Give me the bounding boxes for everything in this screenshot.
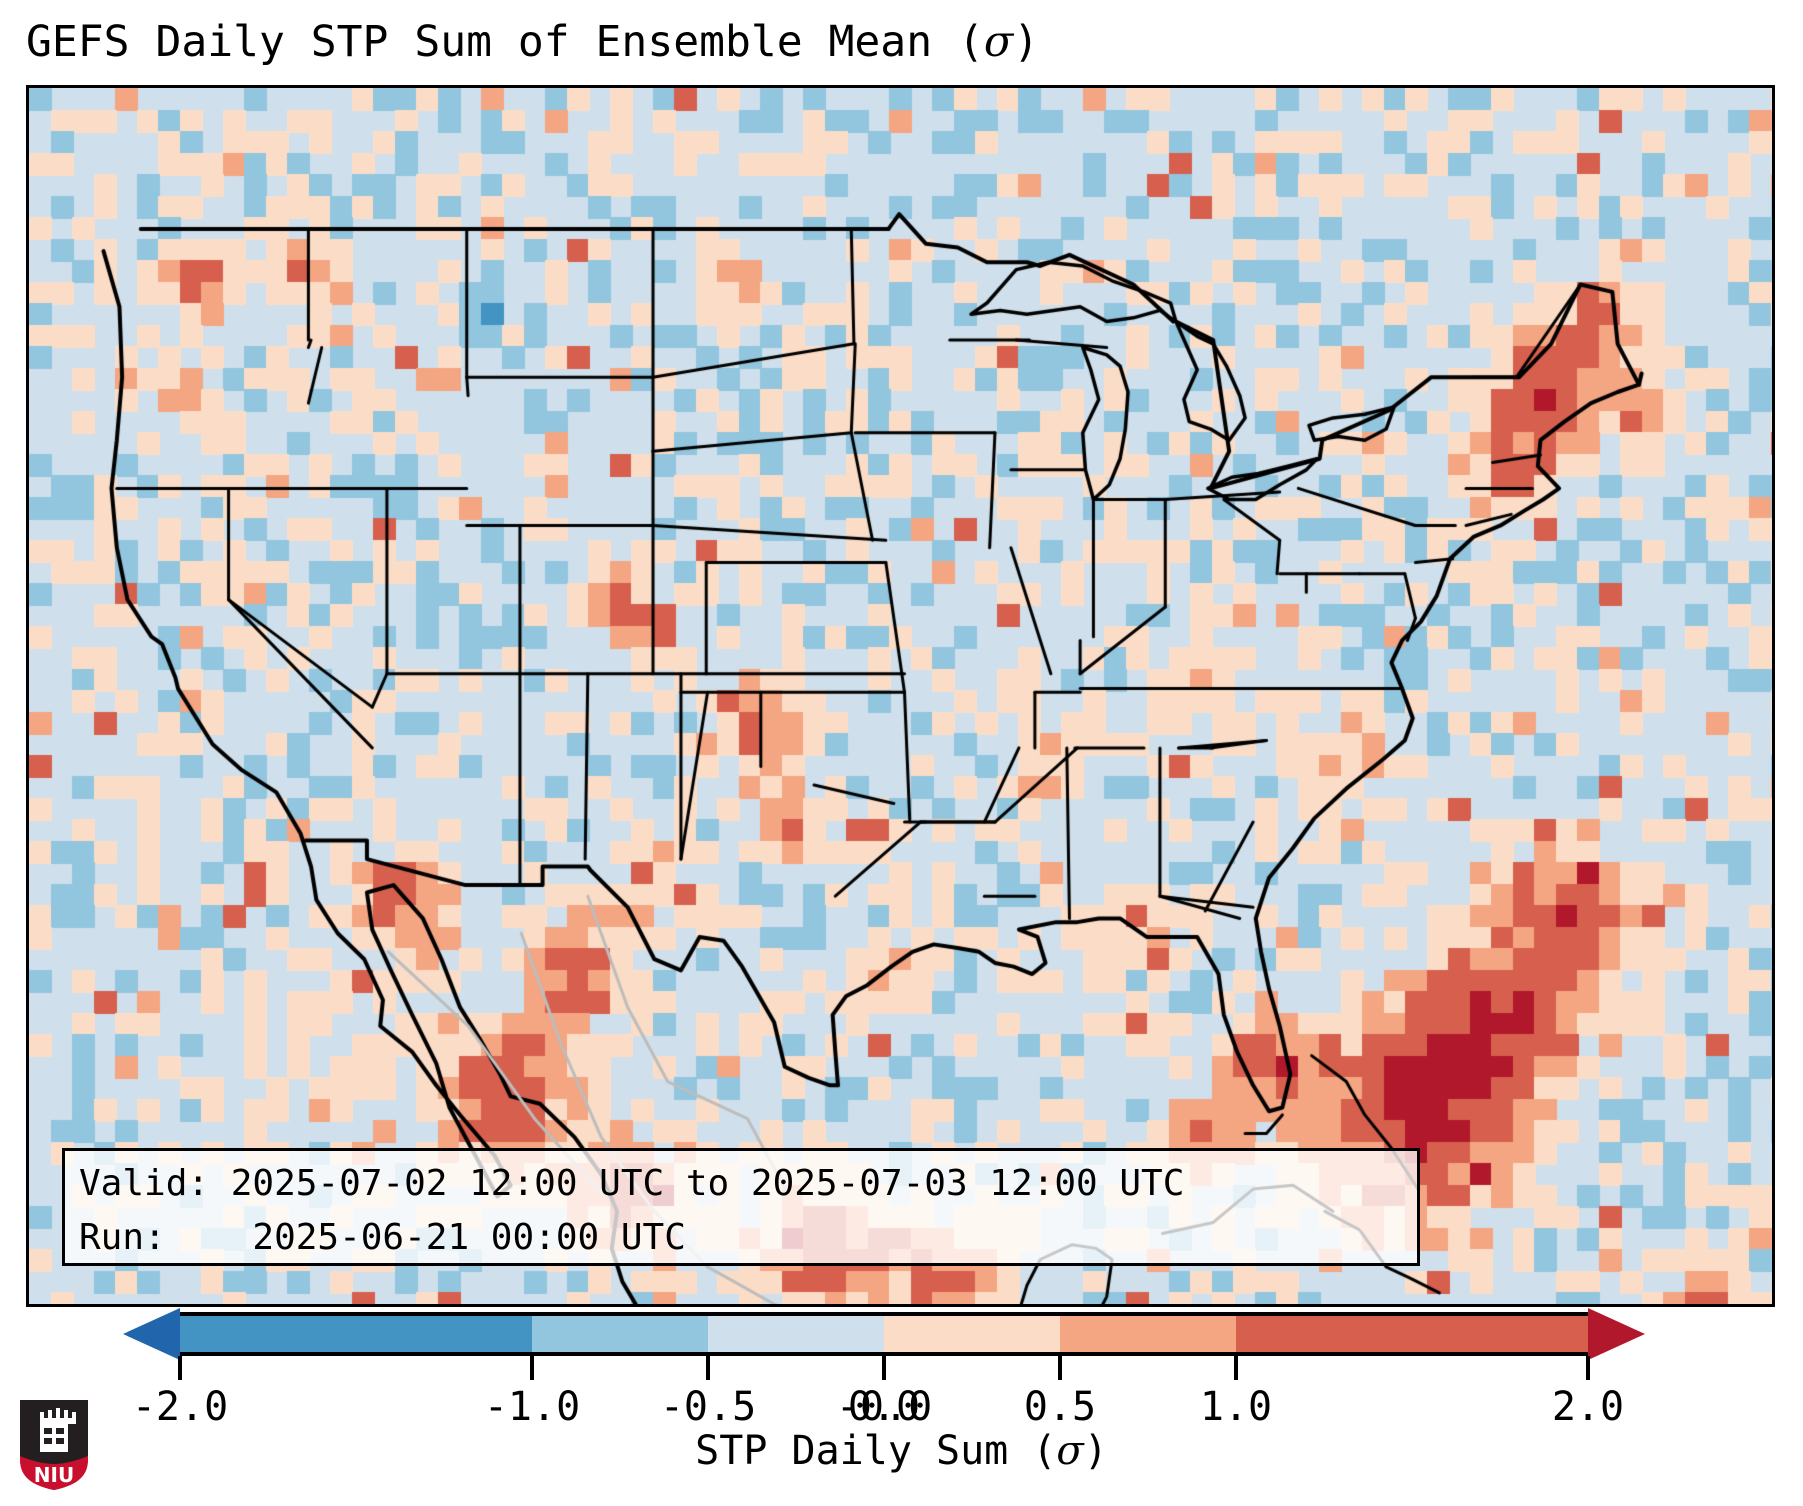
niu-logo-text: NIU [34, 1463, 74, 1487]
map-panel[interactable] [26, 85, 1775, 1307]
colorbar-tick [530, 1356, 534, 1380]
figure-root: GEFS Daily STP Sum of Ensemble Mean (σ) … [0, 0, 1803, 1506]
colorbar-segment [1060, 1316, 1236, 1352]
sigma-symbol: σ [1056, 1428, 1083, 1474]
colorbar-gradient[interactable] [180, 1312, 1588, 1356]
colorbar-tick [1234, 1356, 1238, 1380]
colorbar-label-prefix: STP Daily Sum ( [695, 1428, 1056, 1474]
colorbar-high-extend-arrow [1588, 1308, 1645, 1360]
colorbar-tick-label: -1.0 [484, 1384, 580, 1430]
colorbar-axis-label: STP Daily Sum (σ) [0, 1428, 1803, 1474]
colorbar-tick [1586, 1356, 1590, 1380]
colorbar-tick-label: 2.0 [1552, 1384, 1624, 1430]
colorbar-tick [178, 1356, 182, 1380]
colorbar-tick [1058, 1356, 1062, 1380]
colorbar-tick-label: -0.5 [660, 1384, 756, 1430]
colorbar-segment [884, 1316, 1060, 1352]
figure-title: GEFS Daily STP Sum of Ensemble Mean (σ) [26, 16, 1039, 68]
colorbar-segment [708, 1316, 884, 1352]
colorbar-tick [882, 1356, 886, 1380]
colorbar-low-extend-arrow [123, 1308, 180, 1360]
figure-title-suffix: ) [1013, 17, 1039, 67]
colorbar-segment [1236, 1316, 1588, 1352]
colorbar-box[interactable]: -2.0-1.0-0.5-0.00.00.51.02.0 [180, 1312, 1588, 1356]
colorbar-tick [706, 1356, 710, 1380]
niu-logo: NIU [18, 1398, 90, 1492]
colorbar-wrapper: -2.0-1.0-0.5-0.00.00.51.02.0 [62, 1312, 1742, 1358]
figure-title-prefix: GEFS Daily STP Sum of Ensemble Mean ( [26, 17, 984, 67]
run-time-line: Run: 2025-06-21 00:00 UTC [79, 1211, 1403, 1265]
colorbar-tick-label: 0.5 [1024, 1384, 1096, 1430]
valid-time-line: Valid: 2025-07-02 12:00 UTC to 2025-07-0… [79, 1157, 1403, 1211]
colorbar-tick-label: -2.0 [132, 1384, 228, 1430]
stp-anomaly-heatmap[interactable] [29, 88, 1772, 1304]
colorbar-label-suffix: ) [1084, 1428, 1108, 1474]
colorbar-segment [532, 1316, 708, 1352]
colorbar-tick-label: 0.0 [848, 1384, 920, 1430]
colorbar-segment [180, 1316, 532, 1352]
valid-run-info-box: Valid: 2025-07-02 12:00 UTC to 2025-07-0… [62, 1148, 1420, 1266]
sigma-symbol: σ [984, 17, 1013, 67]
colorbar-tick-label: 1.0 [1200, 1384, 1272, 1430]
